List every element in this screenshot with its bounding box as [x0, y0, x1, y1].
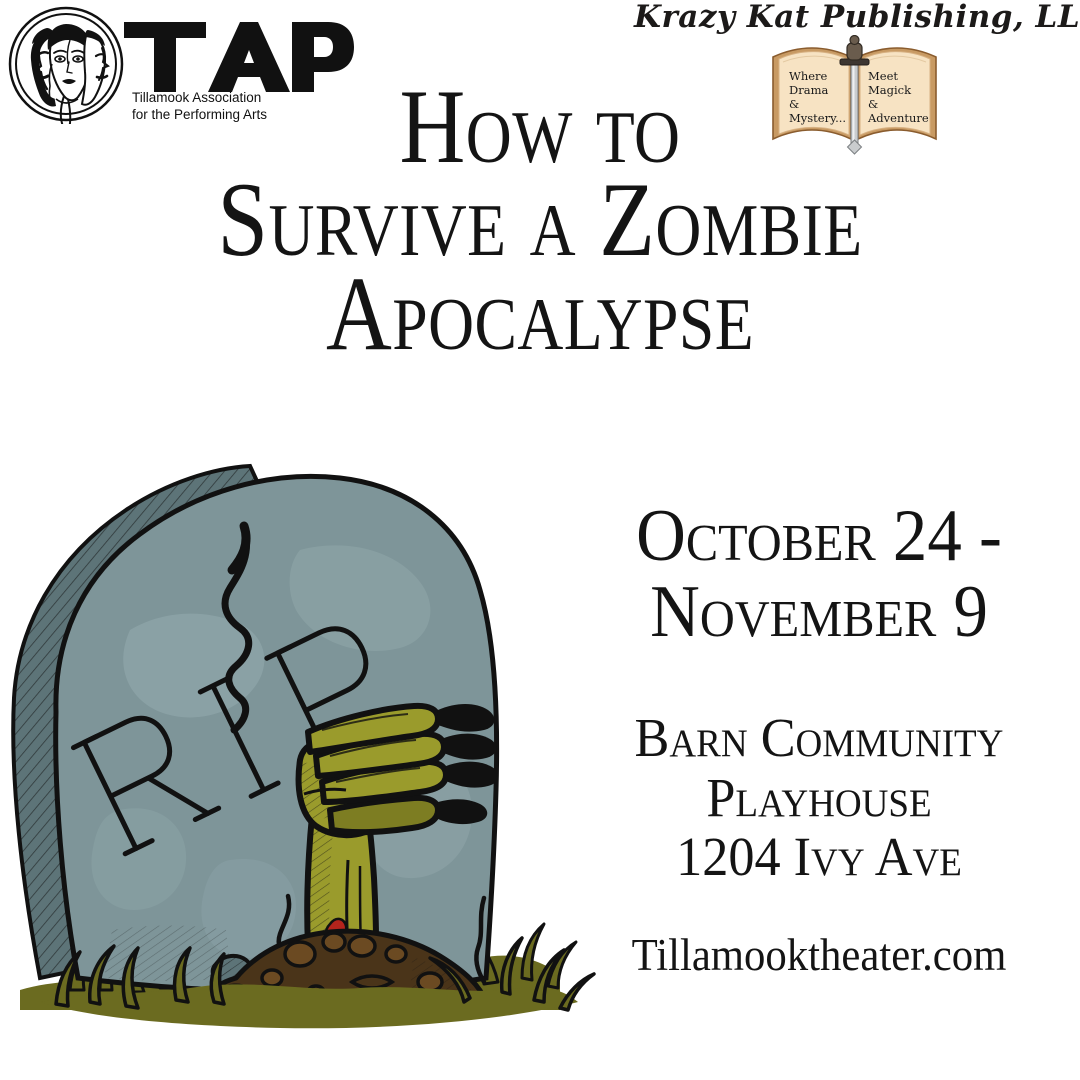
krazy-kat-name: Krazy Kat Publishing, LLC — [634, 2, 1074, 33]
website-link[interactable]: Tillamooktheater.com — [579, 929, 1060, 981]
svg-text:Where: Where — [789, 69, 828, 83]
open-book-with-sword-icon: Where Drama & Mystery... Meet Magick & A… — [767, 35, 942, 155]
tapa-subtitle-line-1: Tillamook Association — [132, 90, 261, 105]
date-line-1: October 24 - — [584, 498, 1055, 574]
svg-text:&: & — [868, 97, 878, 111]
tapa-acronym — [124, 22, 354, 92]
event-info-column: October 24 - November 9 Barn Community P… — [566, 498, 1072, 981]
title-line-3: Apocalypse — [76, 265, 1005, 364]
svg-text:Adventure: Adventure — [867, 111, 929, 125]
svg-text:Mystery...: Mystery... — [789, 111, 846, 125]
tapa-subtitle-line-2: for the Performing Arts — [132, 107, 267, 122]
tapa-logo-svg: Tillamook Association for the Performing… — [6, 4, 356, 124]
zombie-hand-tombstone-illustration — [0, 430, 600, 1050]
svg-text:Magick: Magick — [868, 83, 912, 97]
krazy-kat-publishing-logo: Krazy Kat Publishing, LLC Where Drama & … — [634, 0, 1074, 160]
poster-canvas: Tillamook Association for the Performing… — [0, 0, 1080, 1080]
venue-address: 1204 Ivy Ave — [579, 827, 1060, 886]
date-line-2: November 9 — [584, 574, 1055, 650]
svg-text:Meet: Meet — [868, 69, 898, 83]
venue-line-2: Playhouse — [579, 768, 1060, 827]
svg-text:&: & — [789, 97, 799, 111]
venue-line-1: Barn Community — [579, 708, 1060, 767]
title-line-2: Survive a Zombie — [76, 171, 1005, 270]
svg-text:Drama: Drama — [789, 83, 828, 97]
tapa-logo: Tillamook Association for the Performing… — [6, 4, 356, 124]
venue-block: Barn Community Playhouse 1204 Ivy Ave — [566, 708, 1072, 886]
three-faces-circle-icon — [10, 8, 122, 124]
